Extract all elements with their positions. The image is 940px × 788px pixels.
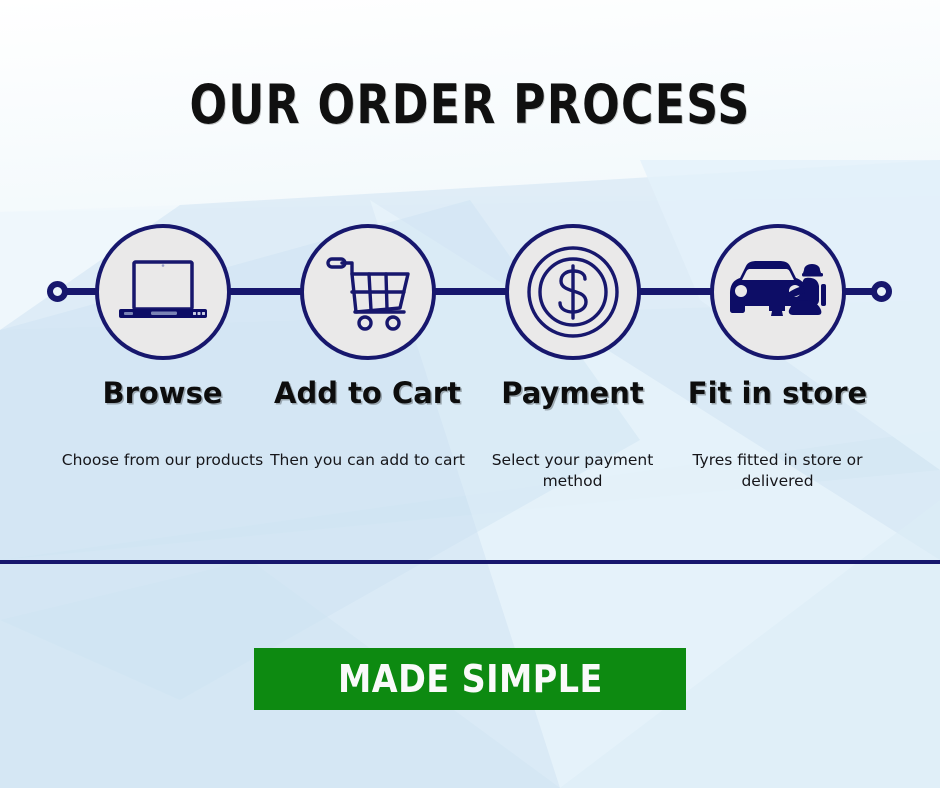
laptop-icon [117, 259, 209, 325]
step-icon-row [0, 224, 940, 362]
step-label-browse: Browse [60, 378, 265, 408]
step-description-browse: Choose from our products [60, 450, 265, 471]
made-simple-banner: MADE SIMPLE [254, 648, 686, 710]
section-divider [0, 560, 940, 564]
page-title-area: OUR ORDER PROCESS [0, 78, 940, 132]
shopping-cart-icon [322, 252, 414, 332]
step-circle-browse[interactable] [95, 224, 231, 360]
made-simple-label: MADE SIMPLE [338, 660, 603, 698]
step-circle-fit-in-store[interactable] [710, 224, 846, 360]
step-column-browse: Browse Choose from our products [60, 378, 265, 492]
order-process-infographic: OUR ORDER PROCESS [0, 0, 940, 788]
step-label-row: Browse Choose from our products Add to C… [0, 378, 940, 492]
step-column-add-to-cart: Add to Cart Then you can add to cart [265, 378, 470, 492]
step-column-payment: Payment Select your payment method [470, 378, 675, 492]
step-description-payment: Select your payment method [470, 450, 675, 492]
step-description-add-to-cart: Then you can add to cart [265, 450, 470, 471]
step-circle-add-to-cart[interactable] [300, 224, 436, 360]
step-label-add-to-cart: Add to Cart [265, 378, 470, 408]
dollar-coin-icon [525, 244, 621, 340]
car-mechanic-icon [726, 258, 830, 326]
step-label-payment: Payment [470, 378, 675, 408]
step-description-fit-in-store: Tyres fitted in store or delivered [675, 450, 880, 492]
step-column-fit-in-store: Fit in store Tyres fitted in store or de… [675, 378, 880, 492]
step-circle-payment[interactable] [505, 224, 641, 360]
page-title: OUR ORDER PROCESS [85, 78, 856, 132]
footer-area: MADE SIMPLE [0, 648, 940, 710]
step-label-fit-in-store: Fit in store [675, 378, 880, 408]
